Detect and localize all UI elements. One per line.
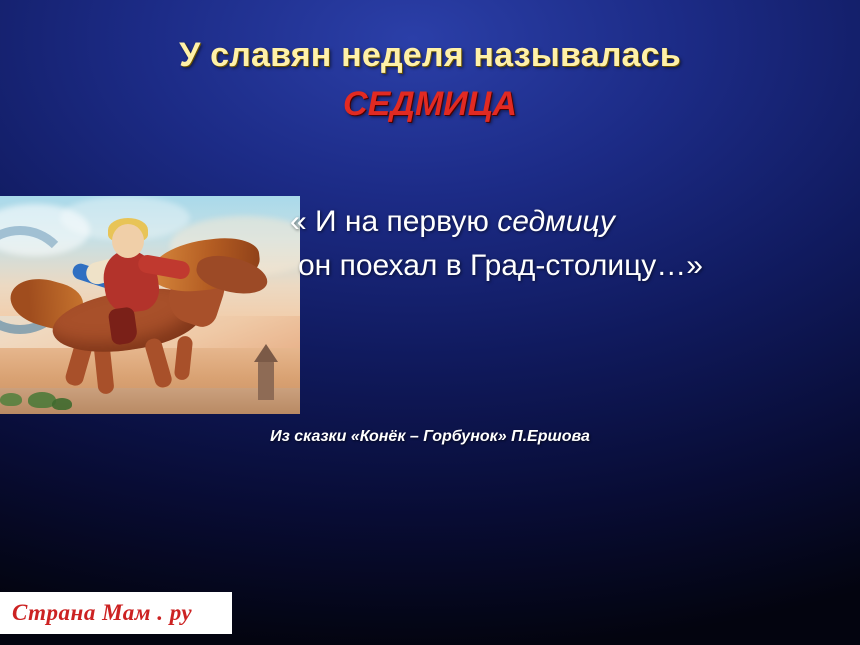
quote-line-2: он поехал в Град-столицу…» xyxy=(290,244,856,288)
title-line-1: У славян неделя называлась xyxy=(0,36,860,75)
title-line-2: СЕДМИЦА xyxy=(0,85,860,124)
presentation-slide: У славян неделя называлась СЕДМИЦА « И н… xyxy=(0,0,860,645)
bush-shape xyxy=(0,393,22,406)
quote-source: Из сказки «Конёк – Горбунок» П.Ершова xyxy=(0,428,860,446)
watermark-text: Страна Мам . ру xyxy=(0,600,192,626)
rider-head xyxy=(112,224,144,258)
watermark-badge: Страна Мам . ру xyxy=(0,592,232,634)
quote-prefix: « И на первую xyxy=(290,205,497,238)
quote-line-1: « И на первую седмицу xyxy=(290,200,856,244)
slide-title: У славян неделя называлась СЕДМИЦА xyxy=(0,36,860,124)
ivan-on-humpbacked-horse-illustration xyxy=(0,196,300,414)
tower-shape xyxy=(258,360,274,400)
quote-italic-word: седмицу xyxy=(497,205,615,238)
bush-shape xyxy=(52,398,72,410)
rider-boot xyxy=(108,306,139,345)
quote-block: « И на первую седмицу он поехал в Град-с… xyxy=(290,200,856,287)
